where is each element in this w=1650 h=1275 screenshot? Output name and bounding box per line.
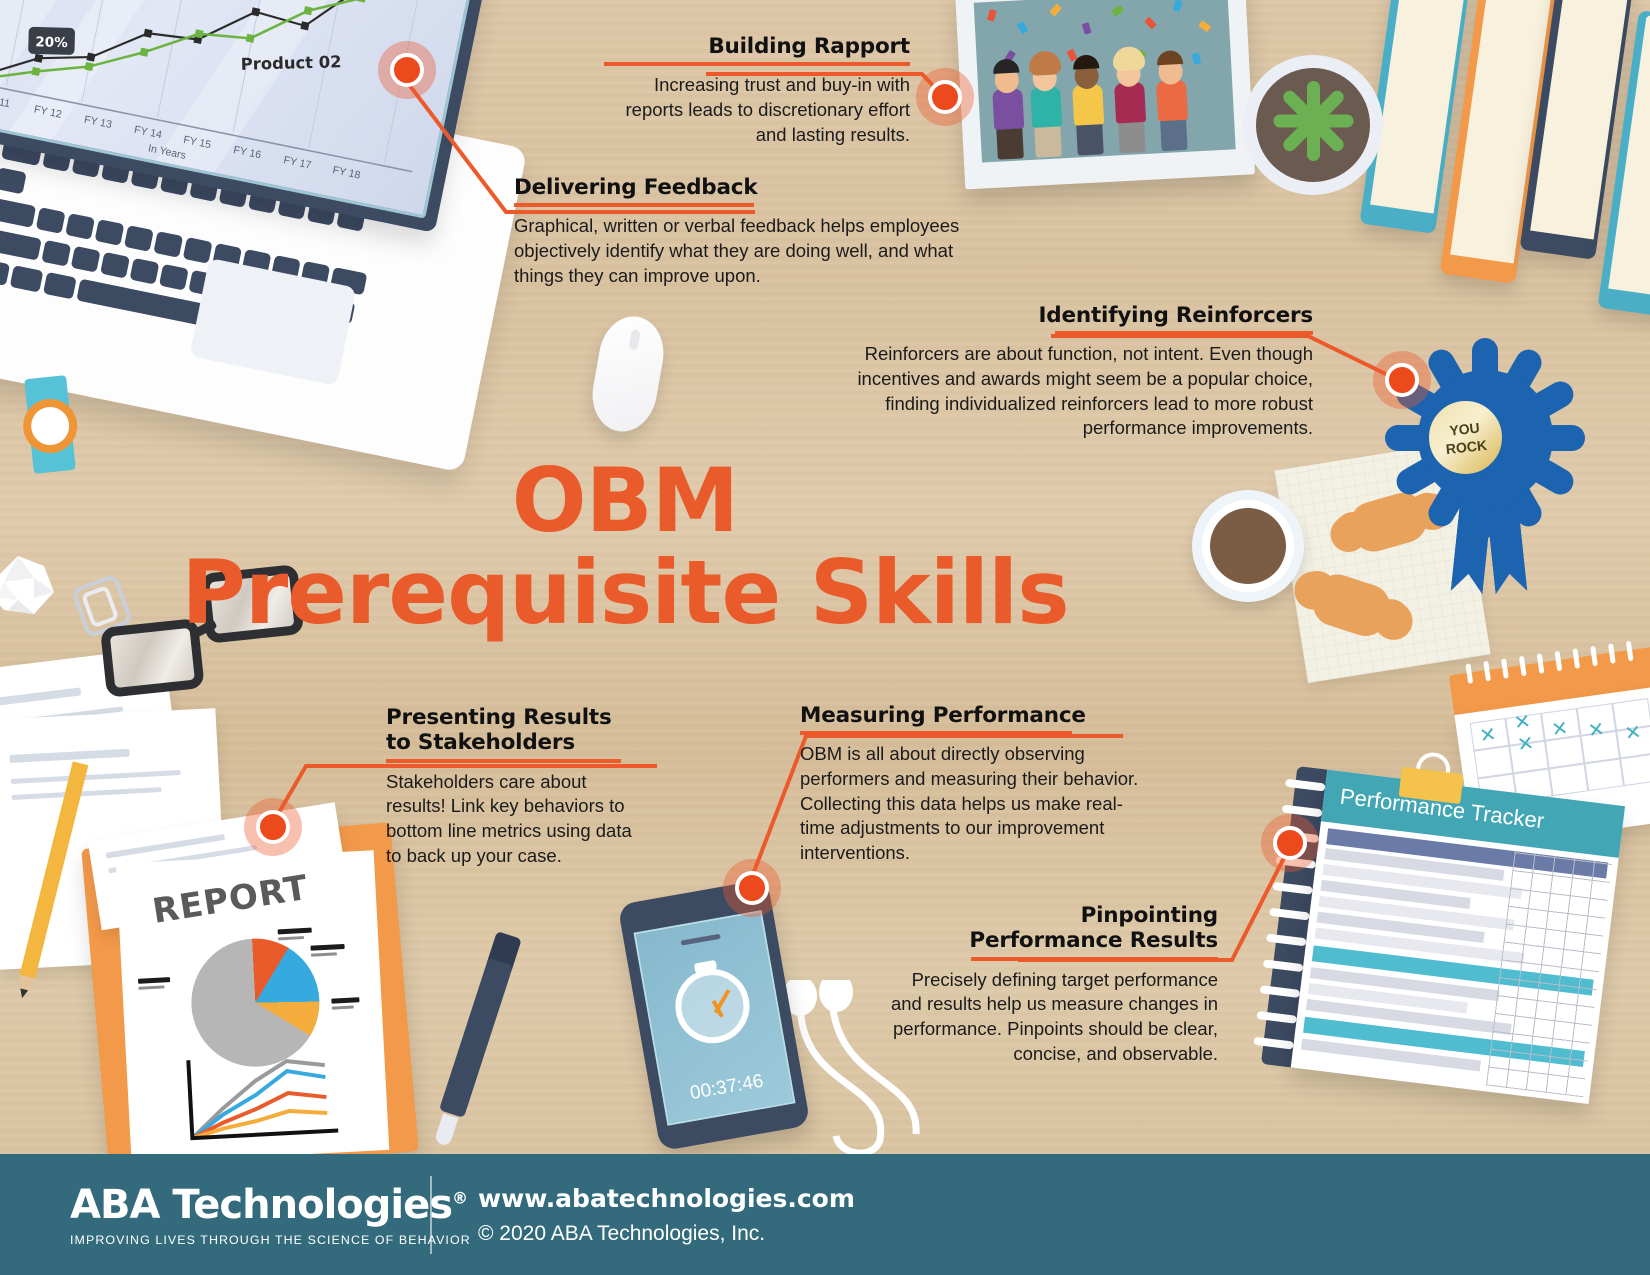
- brand-name-text: ABA Technologies: [70, 1182, 452, 1228]
- callout-body-pinpointing: Precisely defining target performance an…: [880, 968, 1218, 1066]
- chart-xtick-6: FY 17: [282, 154, 312, 171]
- title-line-1: OBM: [0, 455, 1250, 547]
- chart-xtick-2: FY 13: [83, 114, 113, 131]
- callout-rule: [604, 62, 910, 66]
- binder-clip-illustration: [1399, 749, 1466, 804]
- page-title: OBM Prerequisite Skills: [0, 455, 1250, 640]
- callout-rule: [971, 957, 1218, 961]
- chart-xtick-3: FY 14: [133, 124, 163, 141]
- keyboard-key: [183, 237, 213, 264]
- succulent-plant-illustration: [1243, 55, 1383, 195]
- brand-tagline: IMPROVING LIVES THROUGH THE SCIENCE OF B…: [70, 1233, 420, 1247]
- keyboard-key: [95, 219, 125, 246]
- registered-trademark-icon: ®: [452, 1189, 467, 1208]
- callout-heading-measuring-performance: Measuring Performance: [800, 703, 1148, 731]
- chart-legend-product-02: Product 02: [241, 52, 342, 74]
- callout-rule: [1055, 331, 1313, 335]
- books-illustration: [1380, 0, 1650, 310]
- callout-body-identifying-reinforcers: Reinforcers are about function, not inte…: [818, 342, 1313, 440]
- title-line-2: Prerequisite Skills: [0, 547, 1250, 639]
- keyboard-key: [124, 225, 154, 252]
- callout-rule: [800, 731, 1072, 735]
- footer-bar: ABA Technologies® IMPROVING LIVES THROUG…: [0, 1154, 1650, 1275]
- chart-xtick-5: FY 16: [232, 144, 262, 161]
- callout-body-building-rapport: Increasing trust and buy-in with reports…: [604, 73, 910, 147]
- callout-building-rapport: Building Rapport Increasing trust and bu…: [604, 34, 910, 147]
- laptop-illustration: FY 11 FY 12 FY 13 FY 14 FY 15 FY 16 FY 1…: [0, 0, 550, 520]
- chart-xtick-1: FY 12: [33, 103, 63, 120]
- callout-measuring-performance: Measuring Performance OBM is all about d…: [800, 703, 1148, 865]
- keyboard-key: [0, 258, 10, 286]
- brand-logo: ABA Technologies® IMPROVING LIVES THROUG…: [0, 1182, 420, 1247]
- computer-mouse-illustration: [586, 311, 669, 436]
- keyboard-key: [159, 264, 189, 291]
- copyright-text: © 2020 ABA Technologies, Inc.: [478, 1222, 855, 1246]
- chart-xtick-7: FY 18: [332, 164, 362, 181]
- website-url[interactable]: www.abatechnologies.com: [478, 1184, 855, 1213]
- report-line-chart: [174, 1045, 369, 1147]
- callout-body-measuring-performance: OBM is all about directly observing perf…: [800, 742, 1148, 865]
- keyboard-key: [36, 207, 66, 234]
- brand-name: ABA Technologies®: [70, 1182, 420, 1228]
- heading-line-1: Pinpointing: [1081, 903, 1218, 928]
- keyboard-key: [0, 198, 36, 228]
- callout-presenting-results: Presenting Results to Stakeholders Stake…: [386, 705, 636, 868]
- report-folder-illustration: REPORT: [81, 822, 419, 1178]
- infographic-poster: FY 11 FY 12 FY 13 FY 14 FY 15 FY 16 FY 1…: [0, 0, 1650, 1275]
- keyboard-key: [100, 252, 130, 279]
- keyboard-key: [65, 213, 95, 240]
- award-ribbon-illustration: YOU ROCK: [1398, 370, 1578, 590]
- chart-xtick-0: FY 11: [0, 93, 11, 110]
- keyboard-key: [153, 231, 183, 258]
- keyboard-key: [41, 240, 71, 267]
- callout-delivering-feedback: Delivering Feedback Graphical, written o…: [514, 175, 992, 288]
- keyboard-key: [71, 246, 101, 273]
- keyboard-key: [43, 272, 77, 300]
- keyboard-key: [130, 258, 160, 285]
- heading-line-2: to Stakeholders: [386, 730, 575, 755]
- keyboard-key: [10, 265, 44, 293]
- callout-heading-pinpointing: Pinpointing Performance Results: [880, 903, 1218, 957]
- phone-timer-value: 00:37:46: [663, 1066, 791, 1110]
- footer-divider: [430, 1176, 432, 1254]
- photo-frame-illustration: [955, 0, 1255, 189]
- callout-identifying-reinforcers: Identifying Reinforcers Reinforcers are …: [818, 303, 1313, 441]
- callout-heading-identifying-reinforcers: Identifying Reinforcers: [818, 303, 1313, 331]
- pen-illustration: [428, 930, 525, 1140]
- chart-annotation-20: 20%: [35, 34, 68, 51]
- smartphone-illustration: 00:37:46: [617, 879, 810, 1152]
- keyboard-key: [0, 167, 27, 194]
- chart-xtick-4: FY 15: [182, 134, 212, 151]
- report-title: REPORT: [150, 868, 311, 932]
- footer-contact: www.abatechnologies.com © 2020 ABA Techn…: [478, 1184, 855, 1246]
- callout-rule: [514, 203, 754, 207]
- team-celebration-photo: [974, 0, 1236, 163]
- chart-xlabel: In Years: [147, 142, 187, 161]
- callout-heading-presenting-results: Presenting Results to Stakeholders: [386, 705, 636, 759]
- callout-heading-building-rapport: Building Rapport: [604, 34, 910, 62]
- callout-heading-delivering-feedback: Delivering Feedback: [514, 175, 992, 203]
- heading-line-2: Performance Results: [969, 928, 1218, 953]
- keyboard-key: [0, 228, 42, 261]
- callout-body-delivering-feedback: Graphical, written or verbal feedback he…: [514, 214, 992, 288]
- performance-tracker-illustration: Performance Tracker: [1261, 766, 1625, 1104]
- callout-pinpointing-performance-results: Pinpointing Performance Results Precisel…: [880, 903, 1218, 1066]
- callout-body-presenting-results: Stakeholders care about results! Link ke…: [386, 770, 636, 868]
- callout-rule: [386, 759, 621, 763]
- heading-line-1: Presenting Results: [386, 705, 612, 730]
